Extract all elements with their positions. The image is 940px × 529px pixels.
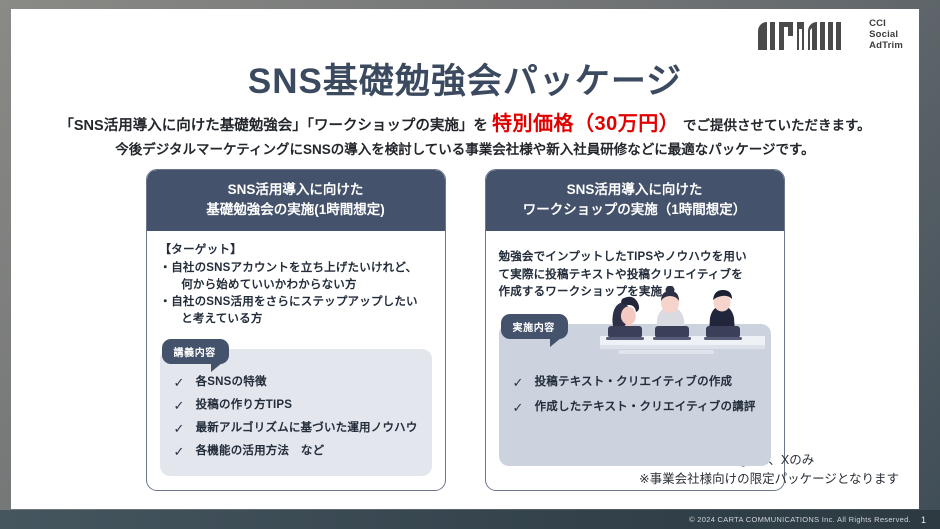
list-item: ✓ 各SNSの特徴 bbox=[174, 371, 422, 394]
list-item-label: 各機能の活用方法 など bbox=[196, 444, 325, 459]
check-icon: ✓ bbox=[174, 375, 185, 390]
page-number: 1 bbox=[921, 515, 926, 525]
list-item: ✓ 投稿テキスト・クリエイティブの作成 bbox=[513, 370, 761, 395]
checklist-panel: ✓ 投稿テキスト・クリエイティブの作成 ✓ 作成したテキスト・クリエイティブの講… bbox=[499, 324, 771, 466]
card-body: 勉強会でインプットしたTIPSやノウハウを用い て実際に投稿テキストや投稿クリエ… bbox=[486, 231, 784, 480]
card-body: 【ターゲット】 ・自社のSNSアカウントを立ち上げたいけれど、 何から始めていい… bbox=[147, 231, 445, 490]
page-title: SNS基礎勉強会パッケージ bbox=[11, 53, 919, 104]
checklist-panel: ✓ 各SNSの特徴 ✓ 投稿の作り方TIPS ✓ 最新アルゴリズムに基づいた運用… bbox=[160, 349, 432, 476]
check-icon: ✓ bbox=[174, 398, 185, 413]
target-bullet: ・自社のSNS活用をさらにステップアップしたい と考えている方 bbox=[160, 294, 432, 327]
target-bullet: ・自社のSNSアカウントを立ち上げたいけれど、 何から始めていいかわからない方 bbox=[160, 260, 432, 293]
card-workshop: SNS活用導入に向けた ワークショップの実施（1時間想定） 勉強会でインプットし… bbox=[485, 169, 785, 491]
check-icon: ✓ bbox=[513, 400, 524, 415]
list-item: ✓ 投稿の作り方TIPS bbox=[174, 394, 422, 417]
list-item: ✓ 最新アルゴリズムに基づいた運用ノウハウ bbox=[174, 417, 422, 440]
lead-line-1: 「SNS活用導入に向けた基礎勉強会」「ワークショップの実施」を 特別価格（30万… bbox=[11, 113, 919, 138]
card-header-title: SNS活用導入に向けた 基礎勉強会の実施(1時間想定) bbox=[147, 170, 445, 231]
list-item-label: 最新アルゴリズムに基づいた運用ノウハウ bbox=[196, 421, 418, 436]
package-cards: SNS活用導入に向けた 基礎勉強会の実施(1時間想定) 【ターゲット】 ・自社の… bbox=[11, 169, 919, 491]
badge-row: 講義内容 bbox=[160, 339, 432, 363]
check-icon: ✓ bbox=[513, 375, 524, 390]
check-icon: ✓ bbox=[174, 444, 185, 459]
badge-row: 実施内容 bbox=[499, 314, 771, 338]
list-item: ✓ 各機能の活用方法 など bbox=[174, 440, 422, 463]
workshop-description: 勉強会でインプットしたTIPSやノウハウを用い て実際に投稿テキストや投稿クリエ… bbox=[499, 249, 771, 302]
lead-line-2: 今後デジタルマーケティングにSNSの導入を検討している事業会社様や新入社員研修な… bbox=[11, 138, 919, 161]
lead-prefix: 「SNS活用導入に向けた基礎勉強会」「ワークショップの実施」を bbox=[59, 118, 492, 134]
slide-canvas: CCI Social AdTrim SNS基礎勉強会パッケージ 「SNS活用導入… bbox=[11, 9, 919, 509]
adtrim-logo-mark-icon bbox=[758, 17, 862, 51]
logo-text: CCI Social AdTrim bbox=[869, 17, 903, 51]
price-highlight: 特別価格（30万円） bbox=[492, 113, 679, 135]
slide-frame: CCI Social AdTrim SNS基礎勉強会パッケージ 「SNS活用導入… bbox=[0, 0, 940, 529]
card-header-title: SNS活用導入に向けた ワークショップの実施（1時間想定） bbox=[486, 170, 784, 231]
badge-lecture-content: 講義内容 bbox=[162, 339, 229, 364]
list-item-label: 作成したテキスト・クリエイティブの講評 bbox=[535, 400, 756, 415]
card-study-session: SNS活用導入に向けた 基礎勉強会の実施(1時間想定) 【ターゲット】 ・自社の… bbox=[146, 169, 446, 491]
list-item: ✓ 作成したテキスト・クリエイティブの講評 bbox=[513, 395, 761, 420]
list-item-label: 投稿テキスト・クリエイティブの作成 bbox=[535, 375, 733, 390]
check-icon: ✓ bbox=[174, 421, 185, 436]
slide-footer: © 2024 CARTA COMMUNICATIONS Inc. All Rig… bbox=[0, 510, 940, 529]
badge-implementation-content: 実施内容 bbox=[501, 314, 568, 339]
brand-logo: CCI Social AdTrim bbox=[758, 17, 903, 51]
target-heading: 【ターゲット】 bbox=[160, 241, 432, 257]
lead-paragraph: 「SNS活用導入に向けた基礎勉強会」「ワークショップの実施」を 特別価格（30万… bbox=[11, 113, 919, 161]
list-item-label: 各SNSの特徴 bbox=[196, 375, 267, 390]
copyright-text: © 2024 CARTA COMMUNICATIONS Inc. All Rig… bbox=[689, 515, 911, 524]
lead-suffix: でご提供させていただきます。 bbox=[679, 118, 870, 133]
list-item-label: 投稿の作り方TIPS bbox=[196, 398, 293, 413]
